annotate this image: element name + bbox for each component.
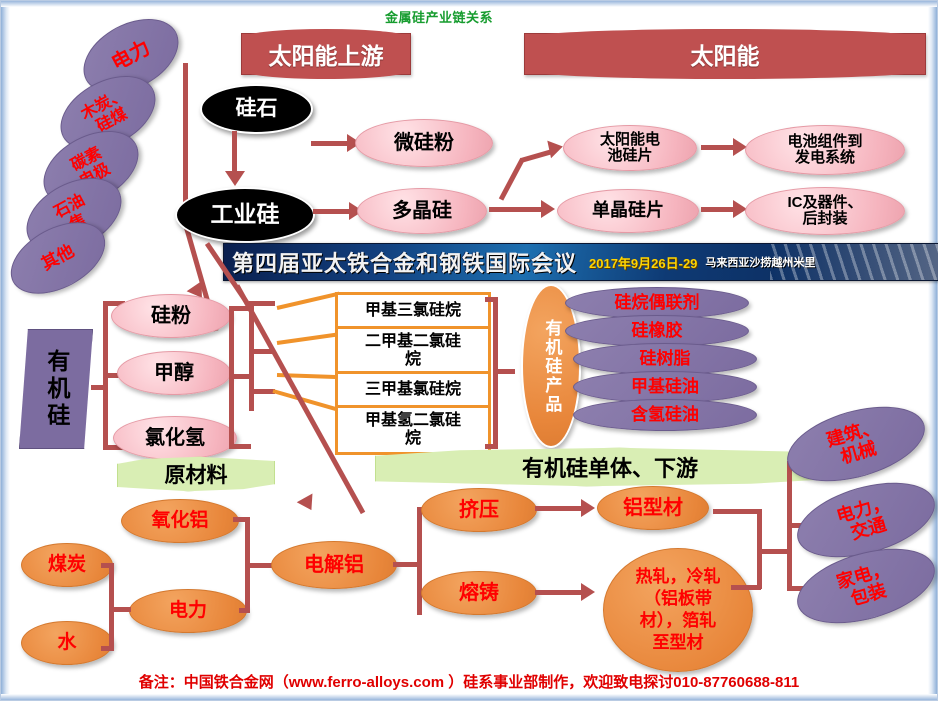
node-quartz: 硅石 bbox=[200, 84, 313, 134]
connector-quartz-to-industrial bbox=[232, 131, 237, 175]
connector-feedstock-collect-mid bbox=[229, 374, 251, 379]
node-electricity-alu: 电力 bbox=[129, 589, 247, 633]
arrow-to-electrolytic-aluminum bbox=[297, 494, 320, 515]
connector-extrusion-to-profile bbox=[535, 506, 587, 511]
node-industrial-silicon: 工业硅 bbox=[175, 187, 315, 243]
connector-monomer-fan-1 bbox=[249, 301, 275, 306]
connector-coal-stem bbox=[101, 563, 113, 568]
conference-name: 第四届亚太铁合金和钢铁国际会议 bbox=[232, 246, 577, 278]
connector-water-stem bbox=[101, 646, 113, 651]
connector-monomers-collect-top bbox=[485, 297, 497, 302]
connector-inputs-vertical bbox=[183, 63, 188, 211]
node-silicon-powder: 硅粉 bbox=[111, 294, 231, 338]
connector-monomer-fan-3 bbox=[249, 389, 275, 394]
connector-products-to-apps bbox=[757, 549, 787, 554]
node-extrusion: 挤压 bbox=[421, 488, 537, 532]
node-casting: 熔铸 bbox=[421, 571, 537, 615]
arrow-poly-to-wafer bbox=[547, 138, 564, 159]
connector-feedstock-collect-bottom bbox=[229, 444, 251, 449]
node-mono-wafer: 单晶硅片 bbox=[557, 189, 699, 233]
page-title: 金属硅产业链关系 bbox=[385, 7, 493, 26]
slide-edge-bottom bbox=[1, 694, 937, 700]
group-label-silicone: 有机硅 bbox=[19, 329, 93, 449]
node-rolled-products: 热轧，冷轧 （铝板带 材），箔轧 至型材 bbox=[603, 548, 753, 672]
connector-rolled-collect bbox=[731, 585, 761, 590]
slide-edge-left bbox=[1, 1, 10, 700]
connector-to-electricity-alu bbox=[109, 607, 131, 612]
connector-monomers-to-products bbox=[493, 369, 515, 374]
monomer-box-2: 二甲基二氯硅 烷 bbox=[335, 326, 491, 376]
node-solar-cell-wafer: 太阳能电 池硅片 bbox=[563, 125, 697, 171]
footer-note: 备注：中国铁合金网（www.ferro-alloys.com ）硅系事业部制作，… bbox=[1, 671, 937, 692]
monomer-box-3: 三甲基氯硅烷 bbox=[335, 371, 491, 409]
connector-polysilicon-to-mono bbox=[489, 207, 547, 212]
conference-date: 2017年9月26日-29 bbox=[589, 253, 697, 272]
connector-electricity-stem bbox=[239, 608, 249, 613]
node-micro-silica: 微硅粉 bbox=[355, 119, 493, 167]
connector-processes-vertical bbox=[417, 507, 422, 615]
conference-place: 马来西亚沙捞越州米里 bbox=[705, 254, 815, 270]
connector-orange-to-monomer-2 bbox=[277, 332, 339, 345]
connector-monomers-collect-bottom bbox=[485, 444, 497, 449]
node-electrolytic-aluminum: 电解铝 bbox=[271, 541, 397, 589]
arrow-polysilicon-to-mono bbox=[541, 200, 555, 218]
banner-solar-upstream: 太阳能上游 bbox=[241, 33, 411, 75]
conference-banner[interactable]: 第四届亚太铁合金和钢铁国际会议 2017年9月26日-29 马来西亚沙捞越州米里 bbox=[223, 243, 938, 281]
slide-edge-right bbox=[928, 1, 937, 700]
slide-canvas: 金属硅产业链关系 太阳能上游 太阳能 电力 木炭、 硅煤 碳素 电极 石油 焦 … bbox=[0, 0, 938, 701]
banner-raw-material: 原材料 bbox=[117, 456, 275, 492]
node-module-to-system: 电池组件到 发电系统 bbox=[745, 125, 905, 175]
connector-alumina-stem bbox=[233, 517, 249, 522]
node-coal: 煤炭 bbox=[21, 543, 113, 587]
node-methanol: 甲醇 bbox=[117, 351, 231, 395]
connector-orange-to-monomer-1 bbox=[277, 292, 340, 310]
node-alumina: 氧化铝 bbox=[121, 499, 239, 543]
arrow-extrusion-to-profile bbox=[581, 499, 595, 517]
arrow-quartz-to-industrial bbox=[225, 171, 245, 186]
node-ic-and-package: IC及器件、 后封装 bbox=[745, 187, 905, 235]
monomer-box-4: 甲基氢二氯硅 烷 bbox=[335, 405, 491, 455]
node-polysilicon: 多晶硅 bbox=[357, 188, 487, 234]
node-aluminum-profile: 铝型材 bbox=[597, 486, 709, 530]
silicone-downstream-5: 含氢硅油 bbox=[573, 399, 757, 431]
banner-silicone-monomer-downstream: 有机硅单体、下游 bbox=[375, 447, 845, 487]
connector-silicone-bracket-stem bbox=[91, 385, 105, 390]
arrow-casting-to-rolling bbox=[581, 583, 595, 601]
monomer-box-1: 甲基三氯硅烷 bbox=[335, 292, 491, 330]
banner-solar: 太阳能 bbox=[524, 33, 926, 75]
connector-profile-collect bbox=[713, 509, 761, 514]
connector-poly-to-wafer-1 bbox=[499, 158, 525, 201]
node-hydrogen-chloride: 氯化氢 bbox=[113, 416, 237, 460]
node-water: 水 bbox=[21, 621, 113, 665]
connector-casting-to-rolling bbox=[535, 590, 587, 595]
